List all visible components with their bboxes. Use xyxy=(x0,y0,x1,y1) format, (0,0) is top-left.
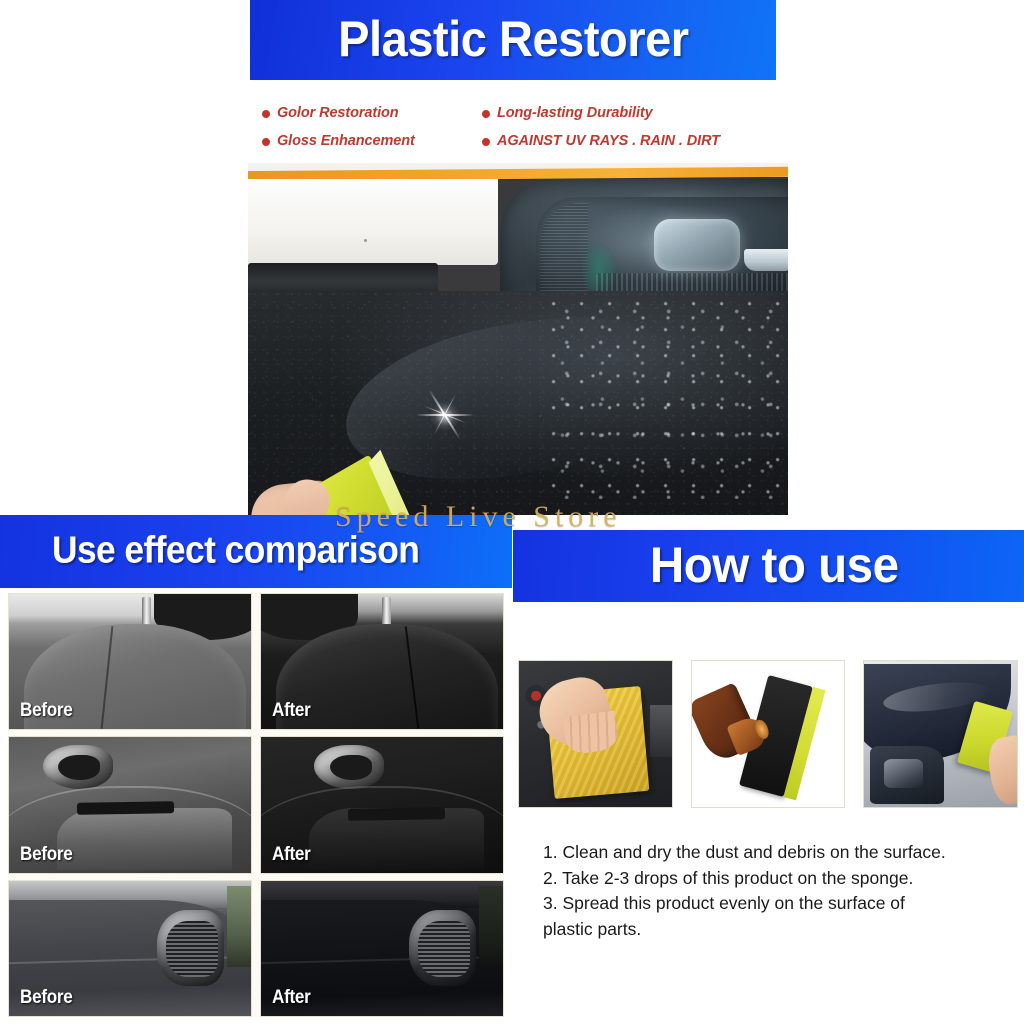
before-label: Before xyxy=(20,700,73,722)
bullet-dot-icon xyxy=(482,110,490,118)
bullet-dot-icon xyxy=(482,138,490,146)
door-switch-slot xyxy=(348,807,445,821)
feature-item-uv-protection: AGAINST UV RAYS . RAIN . DIRT xyxy=(482,127,772,155)
howto-thumbnail-sponge-on-car-body xyxy=(863,660,1018,808)
feature-label: Golor Restoration xyxy=(277,105,399,121)
howto-banner-title: How to use xyxy=(649,536,898,594)
comparison-cell-dashboard-before: Before xyxy=(8,880,252,1017)
after-label: After xyxy=(272,844,311,866)
thumb-car-window xyxy=(870,746,943,804)
dashboard-window xyxy=(479,886,503,967)
feature-item-color-restoration: Golor Restoration xyxy=(262,99,474,127)
feature-item-gloss-enhancement: Gloss Enhancement xyxy=(262,127,474,155)
comparison-cell-headrest-before: Before xyxy=(8,593,252,730)
howto-thumbnail-row xyxy=(518,660,1018,808)
howto-step: 3. Spread this product evenly on the sur… xyxy=(543,891,1013,942)
product-title-text: Plastic Restorer xyxy=(338,14,688,64)
comparison-section-banner: Use effect comparison xyxy=(0,515,512,588)
dashboard-air-vent xyxy=(409,910,477,986)
before-label: Before xyxy=(20,844,73,866)
hero-product-photo xyxy=(248,163,788,515)
dashboard-air-vent xyxy=(157,910,225,986)
hero-headlight-bulb xyxy=(654,219,740,271)
product-title-banner: Plastic Restorer xyxy=(250,0,776,80)
feature-label: Long-lasting Durability xyxy=(497,105,653,121)
after-label: After xyxy=(272,700,311,722)
before-after-grid: Before After Before xyxy=(8,593,504,1017)
feature-label: AGAINST UV RAYS . RAIN . DIRT xyxy=(497,133,720,149)
feature-list: Golor Restoration Long-lasting Durabilit… xyxy=(262,99,772,155)
door-handle xyxy=(43,745,113,788)
feature-label: Gloss Enhancement xyxy=(277,133,415,149)
hero-bumper xyxy=(248,291,788,515)
hero-water-droplets xyxy=(548,299,788,499)
door-handle xyxy=(314,745,384,788)
comparison-cell-door-panel-before: Before xyxy=(8,736,252,873)
bullet-dot-icon xyxy=(262,110,270,118)
feature-item-durability: Long-lasting Durability xyxy=(482,99,772,127)
product-listing-image: Plastic Restorer Golor Restoration Long-… xyxy=(0,0,1024,1024)
door-switch-slot xyxy=(77,801,174,815)
comparison-cell-dashboard-after: After xyxy=(260,880,504,1017)
howto-section-banner: How to use xyxy=(513,530,1024,602)
comparison-cell-door-panel-after: After xyxy=(260,736,504,873)
hero-car-body-panel xyxy=(248,179,498,265)
howto-steps-list: 1. Clean and dry the dust and debris on … xyxy=(543,840,1013,943)
comparison-cell-headrest-after: After xyxy=(260,593,504,730)
howto-step: 2. Take 2-3 drops of this product on the… xyxy=(543,866,1013,892)
hero-body-dot xyxy=(364,239,367,242)
howto-thumbnail-cloth-on-dashboard xyxy=(518,660,673,808)
comparison-banner-title: Use effect comparison xyxy=(52,529,419,572)
hero-headlight-chrome xyxy=(744,249,788,271)
dashboard-window xyxy=(227,886,251,967)
before-label: Before xyxy=(20,987,73,1009)
hero-sparkle-icon xyxy=(444,414,446,416)
after-label: After xyxy=(272,987,311,1009)
thumb-door-trim xyxy=(650,705,671,758)
door-pocket xyxy=(57,808,231,870)
howto-thumbnail-bottle-and-applicator xyxy=(691,660,846,808)
howto-step: 1. Clean and dry the dust and debris on … xyxy=(543,840,1013,866)
product-title: Plastic Restorer xyxy=(250,14,776,64)
bullet-dot-icon xyxy=(262,138,270,146)
